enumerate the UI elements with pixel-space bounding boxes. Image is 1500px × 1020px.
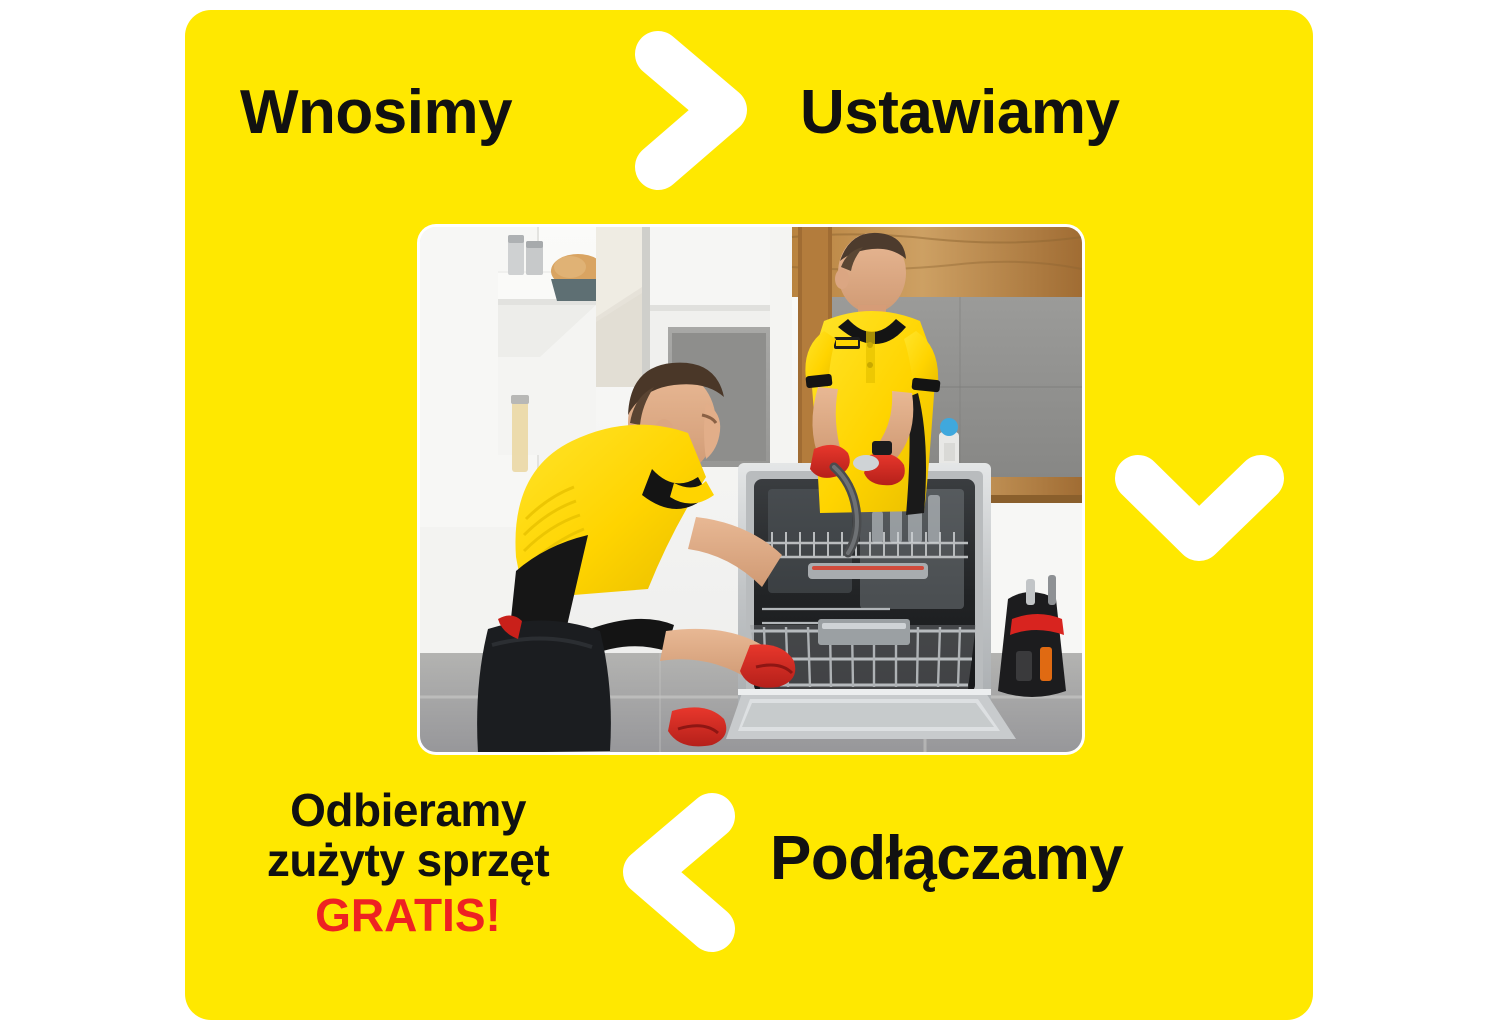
chevron-left-icon xyxy=(620,790,740,955)
chevron-down-icon xyxy=(1112,448,1287,568)
pickup-line-1: Odbieramy xyxy=(222,786,594,836)
headline-step-2: Ustawiamy xyxy=(800,82,1119,144)
pickup-free-badge: GRATIS! xyxy=(222,891,594,941)
installation-photo xyxy=(420,227,1082,752)
pickup-line-2: zużyty sprzęt xyxy=(222,836,594,886)
chevron-right-icon xyxy=(630,28,750,193)
headline-step-1: Wnosimy xyxy=(240,82,512,144)
headline-step-3: Podłączamy xyxy=(770,828,1123,890)
poster-canvas: Wnosimy Ustawiamy Podłączamy Odbieramy z… xyxy=(0,0,1500,1007)
pickup-offer-block: Odbieramy zużyty sprzęt GRATIS! xyxy=(222,786,594,941)
